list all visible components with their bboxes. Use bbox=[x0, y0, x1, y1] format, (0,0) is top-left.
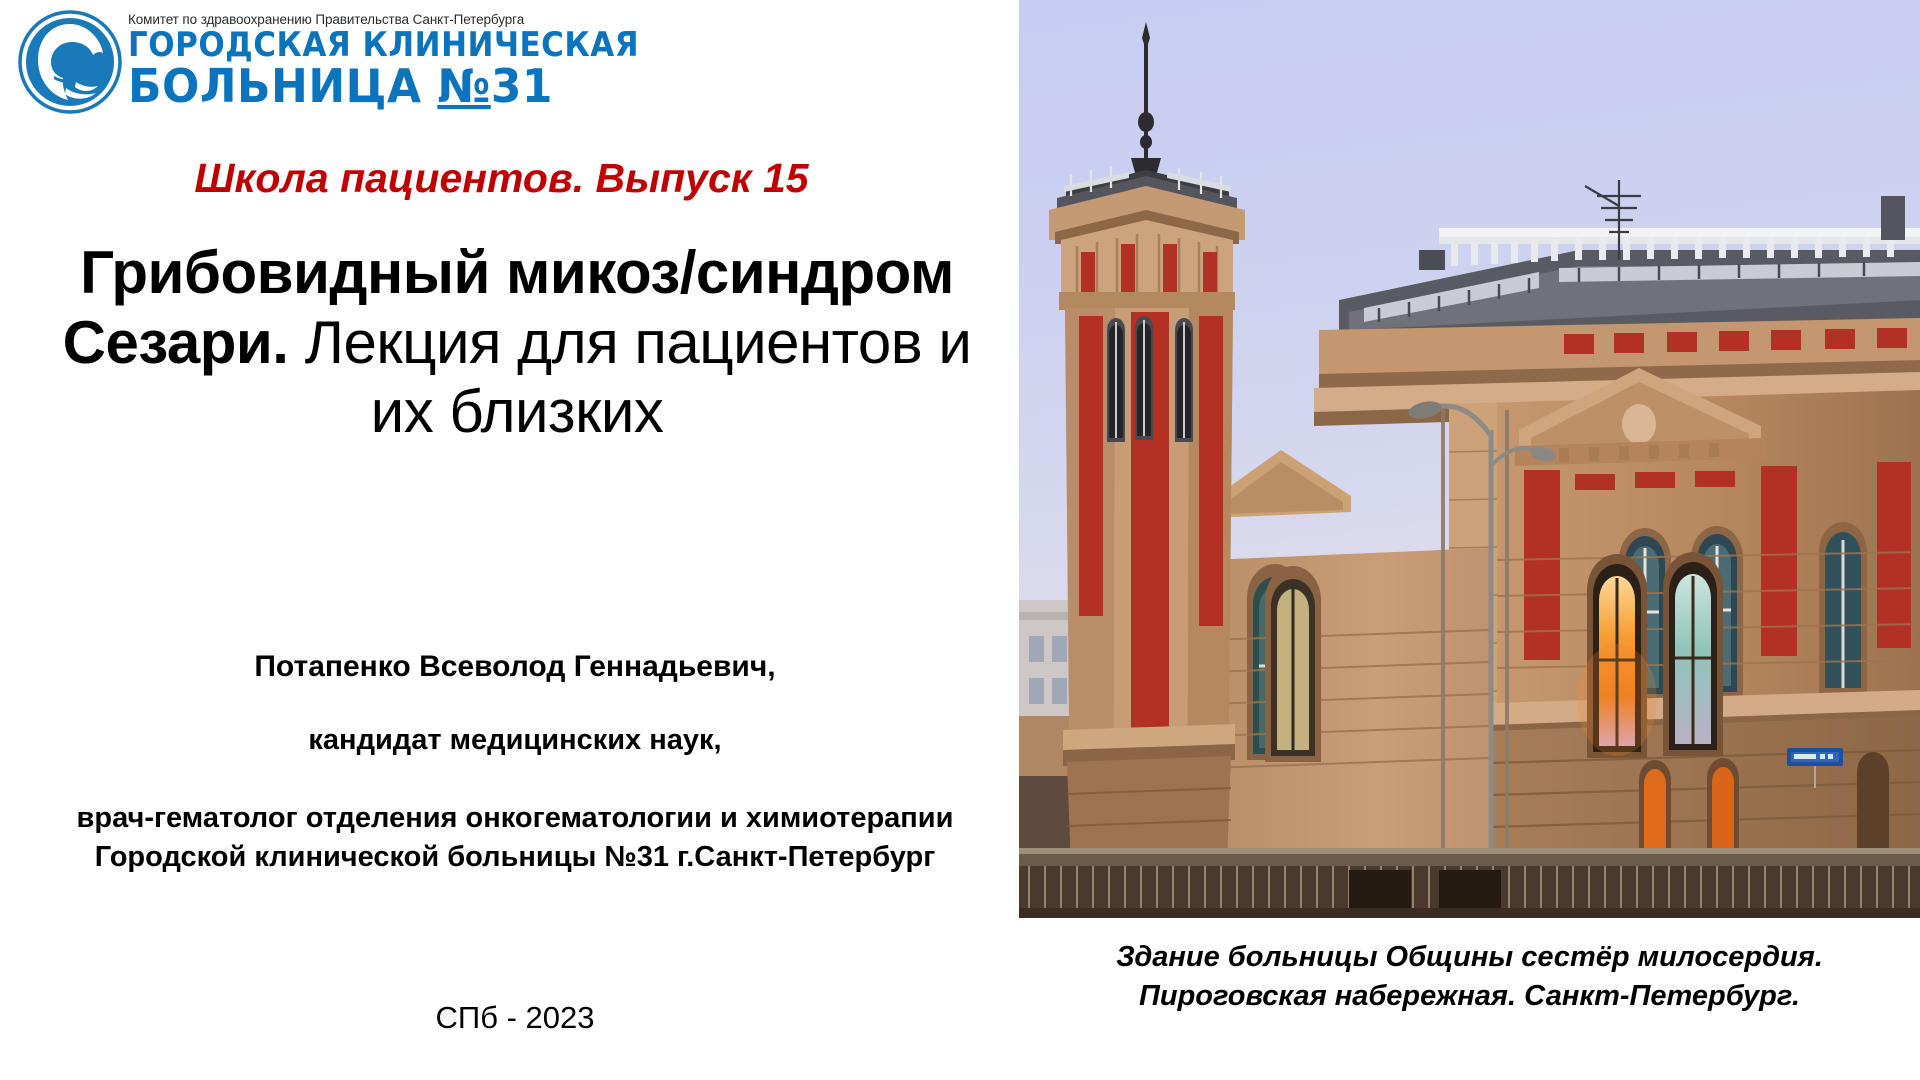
place-and-year: СПб - 2023 bbox=[60, 1000, 970, 1036]
page-title-light: Лекция для пациентов и их близких bbox=[288, 309, 971, 446]
photo-caption: Здание больницы Общины сестёр милосердия… bbox=[1019, 938, 1920, 1015]
page-title: Грибовидный микоз/синдром Сезари. Лекция… bbox=[42, 238, 992, 447]
author-name-comma: , bbox=[767, 650, 775, 683]
author-name: Потапенко Всеволод Геннадьевич, bbox=[60, 652, 970, 682]
series-subtitle: Школа пациентов. Выпуск 15 bbox=[0, 155, 1011, 202]
slide-text-column: Школа пациентов. Выпуск 15 Грибовидный м… bbox=[0, 0, 1019, 1080]
author-block: Потапенко Всеволод Геннадьевич, кандидат… bbox=[60, 652, 970, 876]
author-name-text: Потапенко Всеволод Геннадьевич bbox=[254, 650, 767, 683]
author-degree: кандидат медицинских наук, bbox=[60, 726, 970, 755]
author-position: врач-гематолог отделения онкогематологии… bbox=[60, 799, 970, 876]
hospital-building-photo bbox=[1019, 0, 1920, 918]
